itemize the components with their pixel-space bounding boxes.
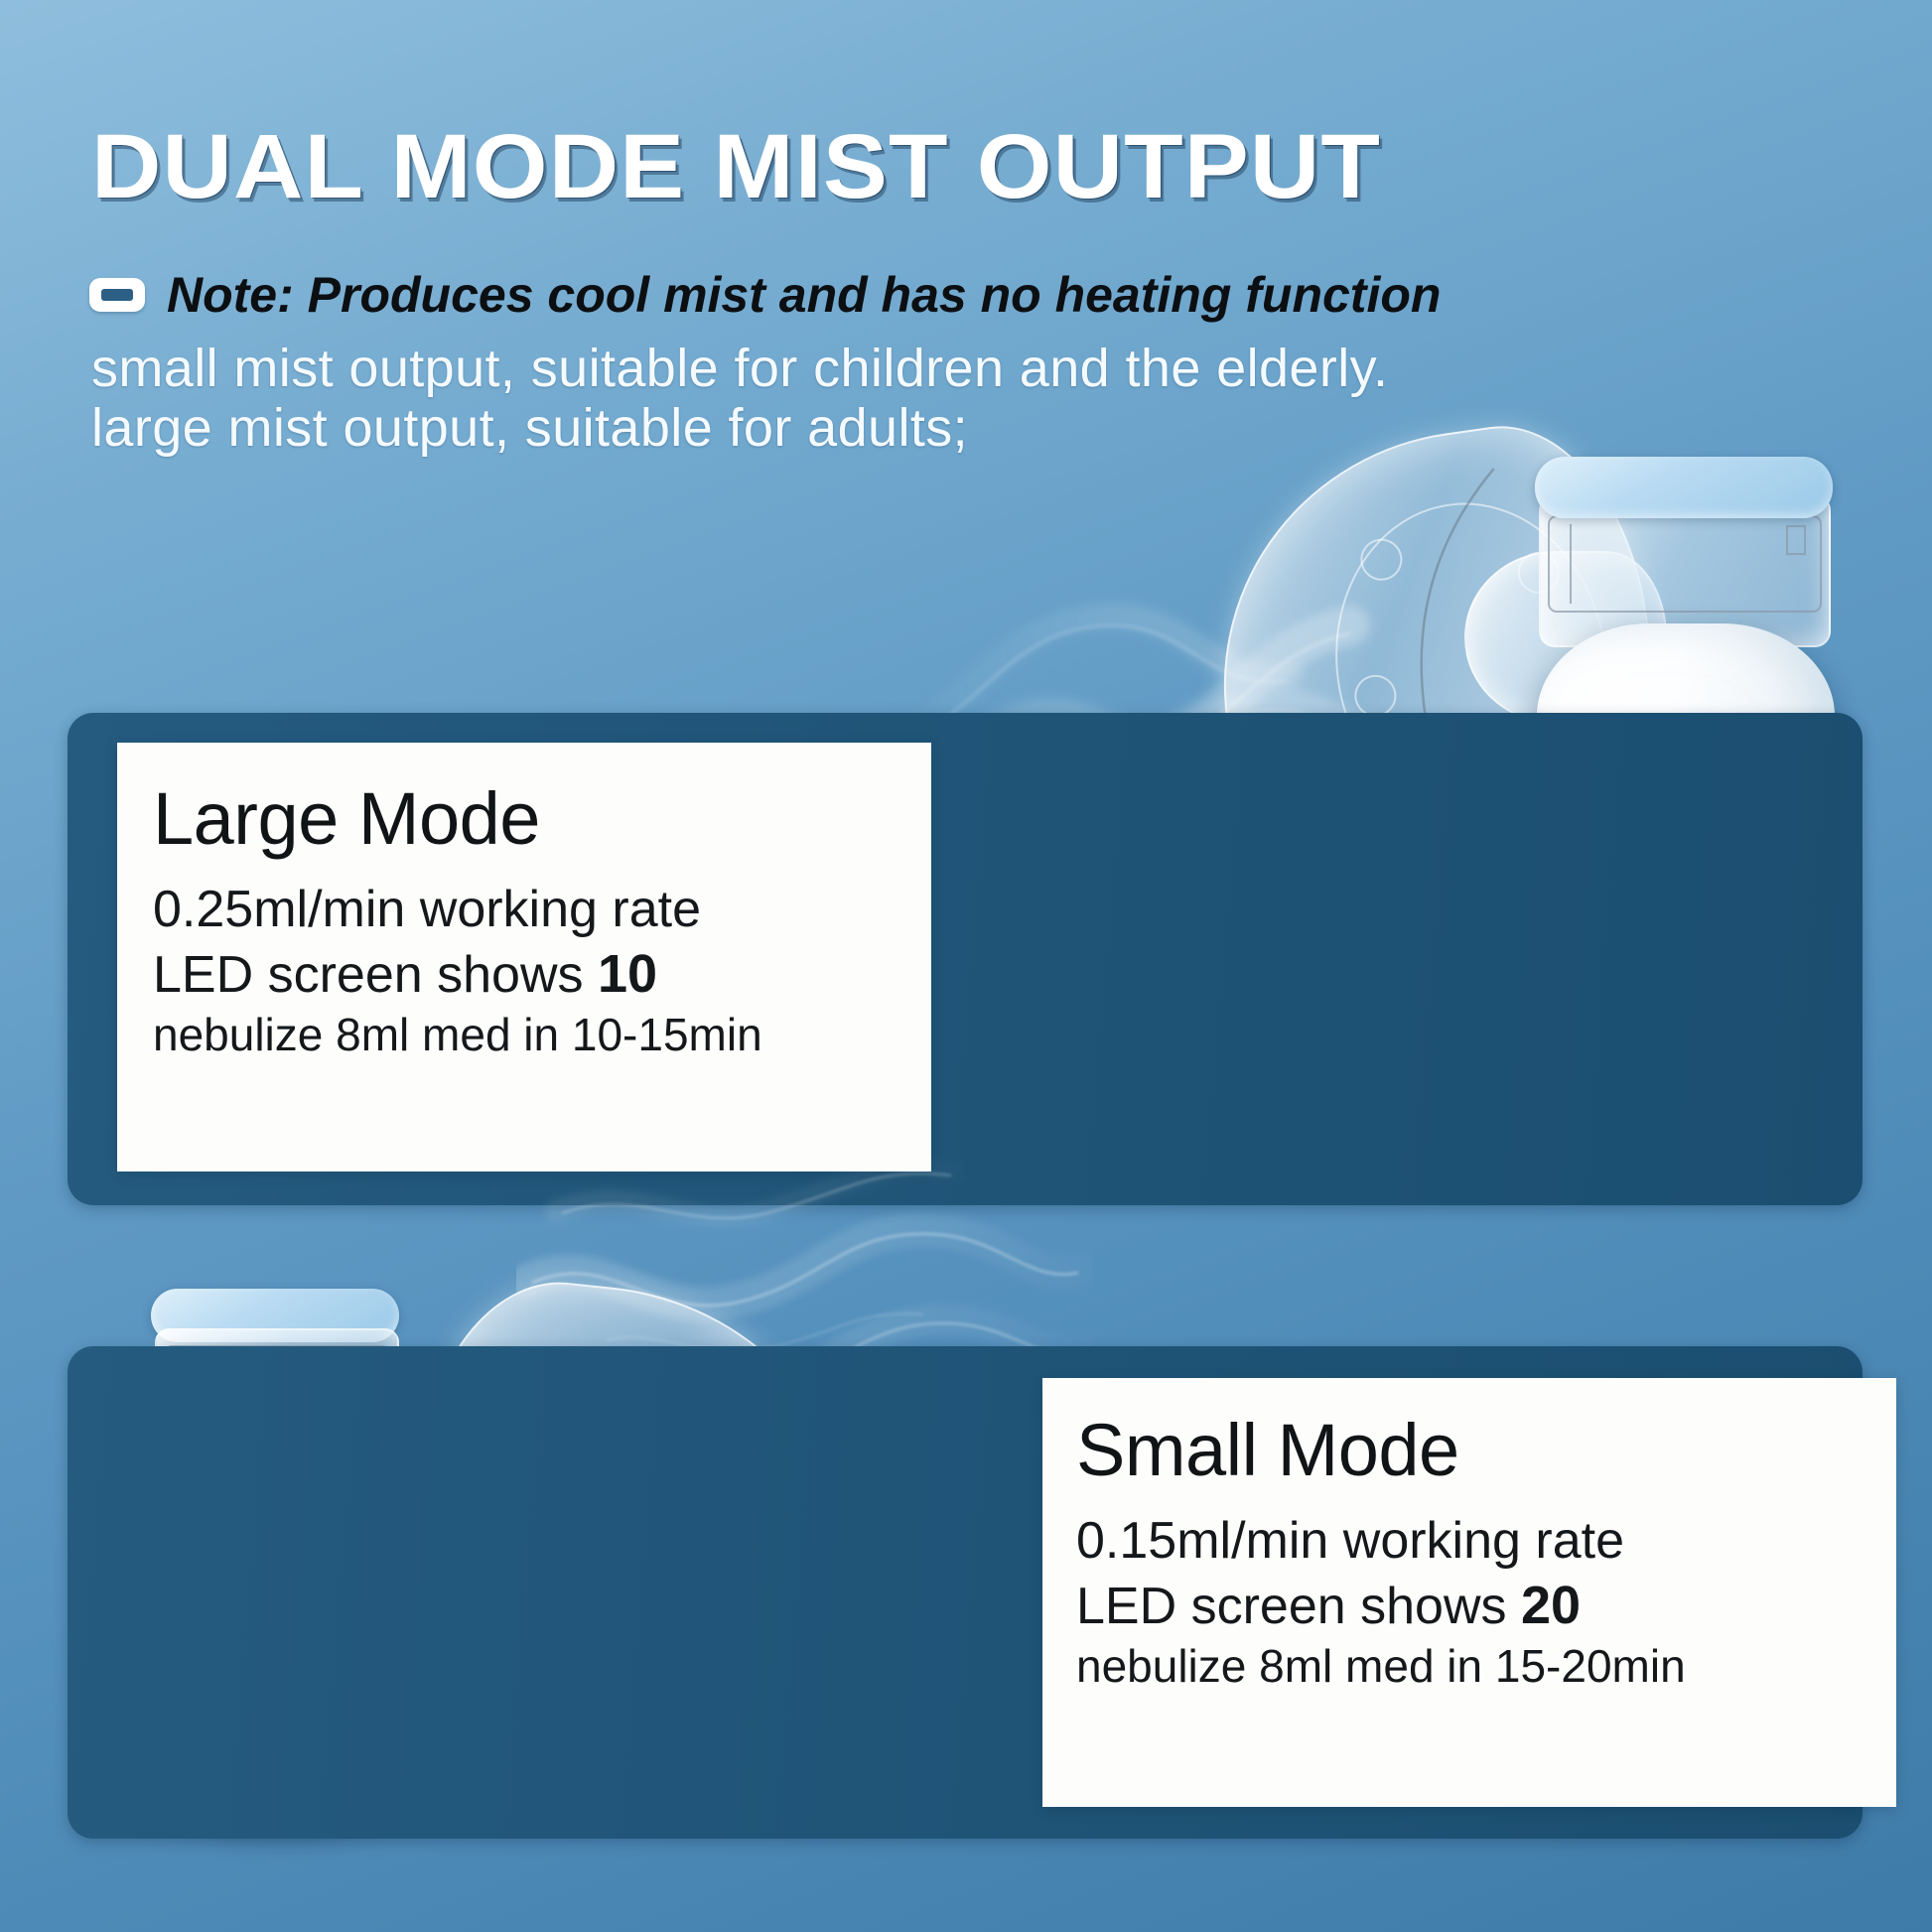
mode-led-prefix-large: LED screen shows [153, 946, 598, 1004]
note-row: Note: Produces cool mist and has no heat… [89, 266, 1777, 324]
minus-bar [101, 289, 133, 301]
mode-rate-large: 0.25ml/min working rate [153, 878, 931, 941]
mode-led-value-large: 10 [598, 944, 657, 1004]
page-title: DUAL MODE MIST OUTPUT [91, 121, 1932, 212]
mode-card-small: Small Mode 0.15ml/min working rate LED s… [1042, 1378, 1896, 1807]
mode-led-value-small: 20 [1521, 1576, 1581, 1635]
mode-rate-small: 0.15ml/min working rate [1076, 1509, 1896, 1573]
mode-led-prefix-small: LED screen shows [1076, 1578, 1521, 1635]
mode-duration-large: nebulize 8ml med in 10-15min [153, 1008, 931, 1062]
mode-card-large: Large Mode 0.25ml/min working rate LED s… [117, 743, 931, 1172]
mode-title-large: Large Mode [153, 782, 931, 856]
mode-title-small: Small Mode [1076, 1414, 1896, 1487]
promo-banner: DUAL MODE MIST OUTPUT Note: Produces coo… [0, 0, 1932, 1932]
note-text: Note: Produces cool mist and has no heat… [167, 266, 1441, 324]
mode-led-large: LED screen shows 10 [153, 941, 931, 1008]
minus-button-icon [89, 278, 145, 312]
intro-line-1: small mist output, suitable for children… [91, 338, 1388, 399]
intro-line-2: large mist output, suitable for adults; [91, 397, 968, 459]
device-cap-large [1535, 457, 1833, 518]
mode-duration-small: nebulize 8ml med in 15-20min [1076, 1639, 1896, 1694]
mode-led-small: LED screen shows 20 [1076, 1573, 1896, 1639]
